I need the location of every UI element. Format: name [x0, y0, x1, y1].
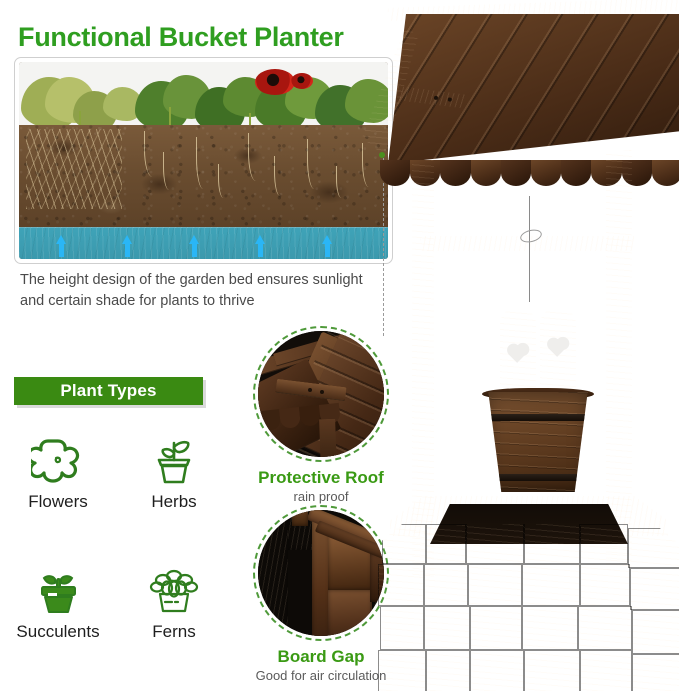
drainage-arrow-icon — [122, 235, 133, 257]
plant-types-grid: Flowers Herbs — [0, 432, 232, 642]
potted-succulent-filled-icon — [34, 562, 82, 618]
plant-types-banner: Plant Types — [14, 377, 203, 405]
infographic-canvas: Functional Bucket Planter — [0, 0, 679, 691]
plant-type-ferns: Ferns — [116, 562, 232, 642]
photo-drainage-layer — [19, 227, 388, 259]
photo-foliage-layer — [19, 62, 388, 133]
plant-type-label: Ferns — [152, 622, 195, 642]
potted-fern-outline-icon — [149, 562, 199, 618]
garden-bed-photo-card — [14, 57, 393, 264]
drainage-arrow-icon — [189, 235, 200, 257]
bucket-metal-band — [480, 414, 596, 421]
plant-type-herbs: Herbs — [116, 432, 232, 512]
drainage-arrow-icon — [322, 235, 333, 257]
plant-type-label: Herbs — [151, 492, 196, 512]
flower-outline-icon — [31, 432, 85, 488]
plant-type-flowers: Flowers — [0, 432, 116, 512]
photo-soil-layer — [19, 125, 388, 227]
photo-root-mass — [26, 129, 122, 209]
heart-cutout-icon — [509, 345, 527, 363]
plant-type-label: Flowers — [28, 492, 88, 512]
page-title: Functional Bucket Planter — [18, 22, 344, 53]
base-wall — [378, 524, 679, 691]
bucket-rope — [529, 196, 530, 302]
bucket-body — [484, 392, 592, 492]
plant-type-succulents: Succulents — [0, 562, 116, 642]
photo-caption: The height design of the garden bed ensu… — [20, 270, 390, 312]
drainage-arrow-icon — [56, 235, 67, 257]
bucket-metal-band — [486, 474, 590, 481]
hanging-bucket — [478, 300, 598, 500]
drainage-arrow-icon — [255, 235, 266, 257]
plant-types-banner-label: Plant Types — [60, 381, 156, 401]
octagonal-planter-base — [378, 490, 679, 691]
heart-cutout-icon — [549, 339, 567, 357]
plant-type-label: Succulents — [16, 622, 99, 642]
wooden-wishing-well-planter-photo — [360, 0, 679, 691]
garden-bed-soil-cross-section-photo — [19, 62, 388, 259]
potted-seedling-icon — [150, 432, 198, 488]
